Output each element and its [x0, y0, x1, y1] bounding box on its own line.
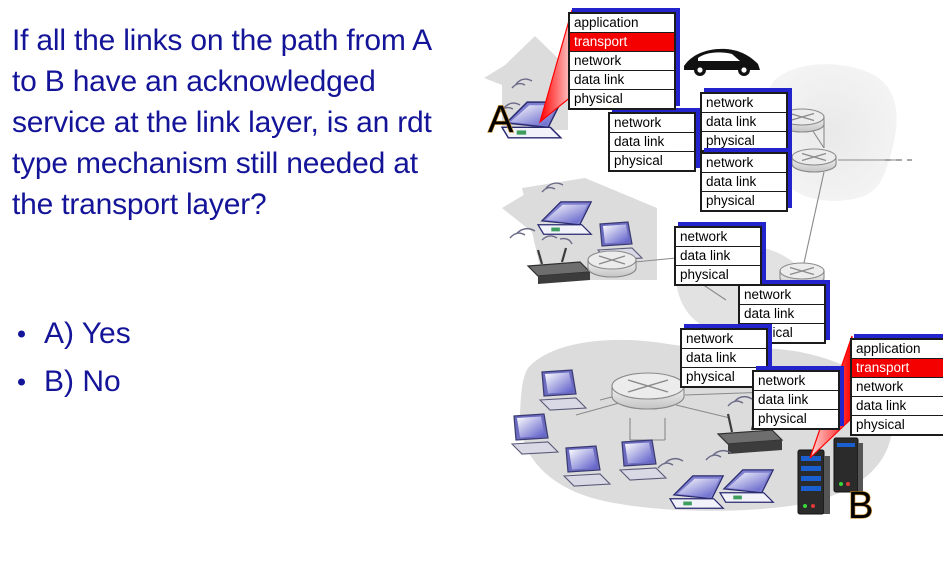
destination-host-label: B	[848, 485, 873, 527]
layer-application: application	[852, 340, 943, 359]
home-switch-icon	[588, 251, 636, 277]
host-b-stack[interactable]: application transport network data link …	[850, 338, 943, 436]
host-a-stack[interactable]: application transport network data link …	[568, 12, 676, 110]
answer-option-a[interactable]: A) Yes	[12, 310, 442, 358]
layer-data-link: data link	[570, 71, 674, 90]
server-b-icon	[798, 450, 830, 514]
bullet-icon	[18, 331, 25, 338]
answer-option-a-label: A) Yes	[44, 317, 131, 350]
layer-data-link: data link	[852, 397, 943, 416]
layer-transport: transport	[570, 33, 674, 52]
layer-network: network	[676, 228, 760, 247]
layer-network: network	[852, 378, 943, 397]
layer-network: network	[682, 330, 766, 349]
enterprise-switch-icon	[612, 373, 684, 409]
car-icon	[684, 49, 760, 76]
router-stack-4[interactable]: network data link physical	[674, 226, 762, 286]
layer-data-link: data link	[682, 349, 766, 368]
layer-data-link: data link	[702, 173, 786, 192]
isp-router-middle-icon	[792, 149, 836, 172]
layer-data-link: data link	[610, 133, 694, 152]
layer-physical: physical	[610, 152, 694, 170]
layer-physical: physical	[570, 90, 674, 108]
layer-data-link: data link	[676, 247, 760, 266]
layer-network: network	[702, 94, 786, 113]
layer-physical: physical	[852, 416, 943, 434]
question-text: If all the links on the path from A to B…	[12, 20, 442, 225]
layer-physical: physical	[702, 192, 786, 210]
layer-data-link: data link	[740, 305, 824, 324]
layer-network: network	[702, 154, 786, 173]
question-pane: If all the links on the path from A to B…	[0, 0, 480, 565]
layer-data-link: data link	[754, 391, 838, 410]
layer-physical: physical	[702, 132, 786, 150]
answer-option-b[interactable]: B) No	[12, 358, 442, 406]
source-host-label: A	[488, 99, 514, 141]
layer-network: network	[740, 286, 824, 305]
router-stack-2[interactable]: network data link physical	[700, 92, 788, 152]
answer-option-b-label: B) No	[44, 365, 121, 398]
layer-application: application	[570, 14, 674, 33]
router-stack-7[interactable]: network data link physical	[752, 370, 840, 430]
network-protocol-stack-diagram: A B network data link physical network d…	[480, 0, 943, 565]
layer-transport: transport	[852, 359, 943, 378]
bullet-icon	[18, 379, 25, 386]
layer-physical: physical	[676, 266, 760, 284]
server-b-secondary-icon	[834, 438, 863, 492]
router-stack-1[interactable]: network data link physical	[608, 112, 696, 172]
layer-network: network	[610, 114, 694, 133]
layer-data-link: data link	[702, 113, 786, 132]
layer-network: network	[754, 372, 838, 391]
isp-router-lower-icon	[780, 263, 824, 286]
layer-physical: physical	[754, 410, 838, 428]
layer-network: network	[570, 52, 674, 71]
answer-list: A) Yes B) No	[12, 310, 442, 406]
router-stack-3[interactable]: network data link physical	[700, 152, 788, 212]
